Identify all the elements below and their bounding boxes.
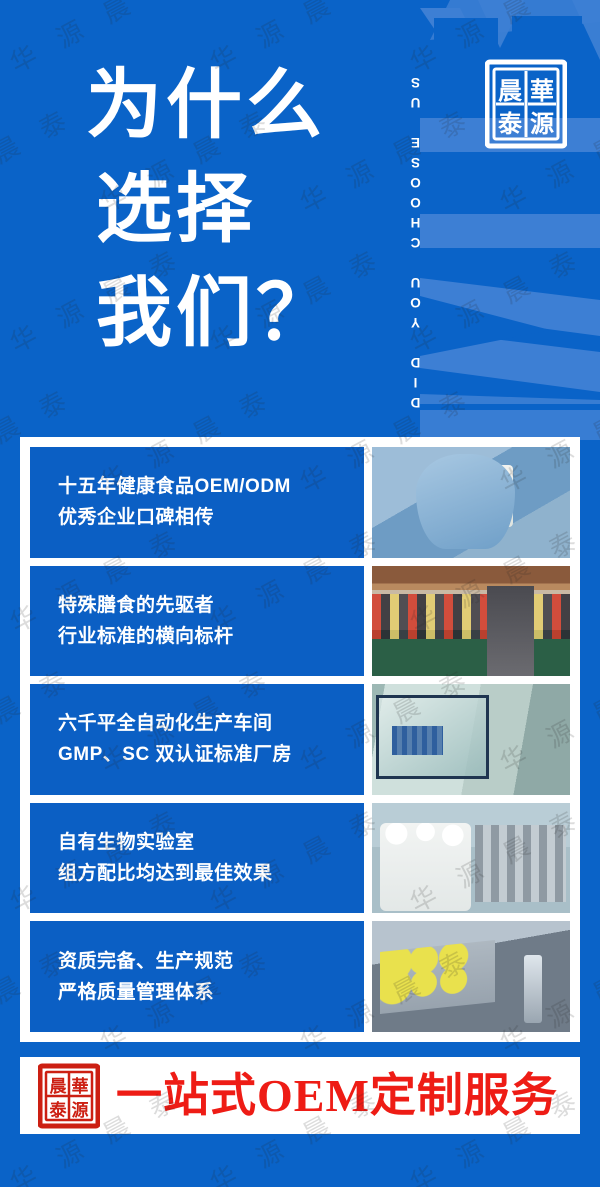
feature-line-2: 严格质量管理体系 bbox=[58, 977, 364, 1008]
feature-line-2: 行业标准的横向标杆 bbox=[58, 621, 364, 652]
features-panel: 十五年健康食品OEM/ODM 优秀企业口碑相传 特殊膳食的先驱者 行业标准的横向… bbox=[20, 437, 580, 1042]
company-seal-logo: 華 源 晨 泰 bbox=[485, 58, 567, 150]
svg-text:晨: 晨 bbox=[50, 1077, 68, 1096]
feature-row: 特殊膳食的先驱者 行业标准的横向标杆 bbox=[30, 566, 570, 677]
feature-line-2: 组方配比均达到最佳效果 bbox=[58, 858, 364, 889]
feature-row: 十五年健康食品OEM/ODM 优秀企业口碑相传 bbox=[30, 447, 570, 558]
feature-photo bbox=[372, 803, 570, 914]
svg-text:源: 源 bbox=[530, 111, 554, 138]
headline-line-2: 选择 bbox=[86, 158, 386, 262]
feature-line-1: 特殊膳食的先驱者 bbox=[58, 590, 364, 621]
svg-text:華: 華 bbox=[72, 1077, 89, 1096]
feature-text-card: 十五年健康食品OEM/ODM 优秀企业口碑相传 bbox=[30, 447, 364, 558]
feature-photo bbox=[372, 566, 570, 677]
poster-root: 为什么 选择 我们？ DID YOU CHOOSE US 華 源 晨 泰 bbox=[0, 0, 600, 1187]
feature-photo bbox=[372, 921, 570, 1032]
headline-line-1: 为什么 bbox=[86, 54, 386, 158]
feature-line-1: 六千平全自动化生产车间 bbox=[58, 708, 364, 739]
svg-text:泰: 泰 bbox=[498, 111, 523, 138]
footer-slogan: 一站式OEM定制服务 bbox=[116, 1073, 558, 1119]
feature-text-card: 自有生物实验室 组方配比均达到最佳效果 bbox=[30, 803, 364, 914]
svg-text:華: 華 bbox=[530, 78, 554, 105]
svg-text:泰: 泰 bbox=[50, 1100, 68, 1120]
feature-row: 资质完备、生产规范 严格质量管理体系 bbox=[30, 921, 570, 1032]
feature-photo bbox=[372, 684, 570, 795]
feature-line-1: 资质完备、生产规范 bbox=[58, 946, 364, 977]
feature-text-card: 六千平全自动化生产车间 GMP、SC 双认证标准厂房 bbox=[30, 684, 364, 795]
feature-line-1: 自有生物实验室 bbox=[58, 827, 364, 858]
feature-line-1: 十五年健康食品OEM/ODM bbox=[58, 471, 364, 502]
vertical-english-tagline: DID YOU CHOOSE US bbox=[408, 20, 438, 410]
footer-banner: 華 源 晨 泰 一站式OEM定制服务 bbox=[20, 1057, 580, 1134]
header-section: 为什么 选择 我们？ DID YOU CHOOSE US 華 源 晨 泰 bbox=[0, 0, 600, 437]
feature-row: 六千平全自动化生产车间 GMP、SC 双认证标准厂房 bbox=[30, 684, 570, 795]
svg-text:源: 源 bbox=[72, 1100, 89, 1120]
feature-text-card: 特殊膳食的先驱者 行业标准的横向标杆 bbox=[30, 566, 364, 677]
footer-seal-logo: 華 源 晨 泰 bbox=[38, 1063, 100, 1129]
features-list: 十五年健康食品OEM/ODM 优秀企业口碑相传 特殊膳食的先驱者 行业标准的横向… bbox=[30, 447, 570, 1032]
headline-line-3: 我们？ bbox=[86, 262, 386, 366]
feature-photo bbox=[372, 447, 570, 558]
page-title: 为什么 选择 我们？ bbox=[86, 54, 386, 366]
feature-row: 自有生物实验室 组方配比均达到最佳效果 bbox=[30, 803, 570, 914]
feature-text-card: 资质完备、生产规范 严格质量管理体系 bbox=[30, 921, 364, 1032]
feature-line-2: 优秀企业口碑相传 bbox=[58, 502, 364, 533]
feature-line-2: GMP、SC 双认证标准厂房 bbox=[58, 739, 364, 770]
svg-text:晨: 晨 bbox=[498, 79, 523, 105]
